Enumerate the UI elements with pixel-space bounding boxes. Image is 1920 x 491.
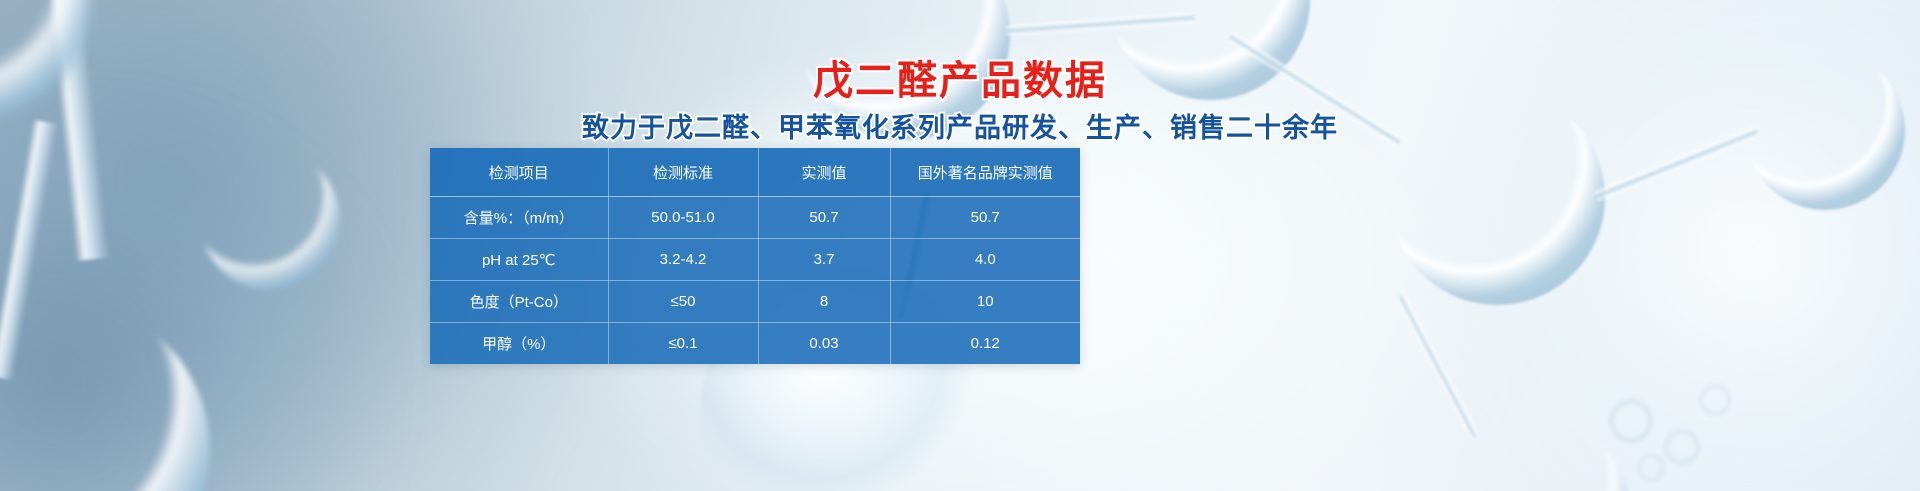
table-row: 含量%：（m/m） 50.0-51.0 50.7 50.7 — [430, 197, 1080, 239]
cell-test-item: 色度（Pt-Co） — [430, 281, 608, 323]
page-title: 戊二醛产品数据 — [0, 48, 1920, 106]
page-subtitle: 致力于戊二醛、甲苯氧化系列产品研发、生产、销售二十余年 — [0, 106, 1920, 145]
cell-test-item: pH at 25℃ — [430, 239, 608, 281]
column-header-test-item: 检测项目 — [430, 148, 608, 197]
column-header-test-standard: 检测标准 — [608, 148, 758, 197]
cell-test-standard: 50.0-51.0 — [608, 197, 758, 239]
cell-foreign-brand: 4.0 — [890, 239, 1080, 281]
table-header: 检测项目 检测标准 实测值 国外著名品牌实测值 — [430, 148, 1080, 197]
cell-test-item: 甲醇（%） — [430, 323, 608, 365]
cell-foreign-brand: 50.7 — [890, 197, 1080, 239]
cell-measured-value: 8 — [758, 281, 890, 323]
product-data-table: 检测项目 检测标准 实测值 国外著名品牌实测值 含量%：（m/m） 50.0-5… — [430, 148, 1080, 364]
cell-test-item: 含量%：（m/m） — [430, 197, 608, 239]
table-body: 含量%：（m/m） 50.0-51.0 50.7 50.7 pH at 25℃ … — [430, 197, 1080, 365]
cell-measured-value: 3.7 — [758, 239, 890, 281]
column-header-foreign-brand: 国外著名品牌实测值 — [890, 148, 1080, 197]
banner-content: 戊二醛产品数据 致力于戊二醛、甲苯氧化系列产品研发、生产、销售二十余年 检测项目… — [0, 0, 1920, 491]
table-row: pH at 25℃ 3.2-4.2 3.7 4.0 — [430, 239, 1080, 281]
cell-test-standard: 3.2-4.2 — [608, 239, 758, 281]
table-row: 甲醇（%） ≤0.1 0.03 0.12 — [430, 323, 1080, 365]
table-row: 色度（Pt-Co） ≤50 8 10 — [430, 281, 1080, 323]
cell-test-standard: ≤0.1 — [608, 323, 758, 365]
cell-foreign-brand: 10 — [890, 281, 1080, 323]
product-data-table-wrapper: 检测项目 检测标准 实测值 国外著名品牌实测值 含量%：（m/m） 50.0-5… — [430, 148, 1080, 364]
cell-measured-value: 0.03 — [758, 323, 890, 365]
cell-test-standard: ≤50 — [608, 281, 758, 323]
column-header-measured-value: 实测值 — [758, 148, 890, 197]
cell-foreign-brand: 0.12 — [890, 323, 1080, 365]
table-header-row: 检测项目 检测标准 实测值 国外著名品牌实测值 — [430, 148, 1080, 197]
product-data-banner: 戊二醛产品数据 致力于戊二醛、甲苯氧化系列产品研发、生产、销售二十余年 检测项目… — [0, 0, 1920, 491]
cell-measured-value: 50.7 — [758, 197, 890, 239]
